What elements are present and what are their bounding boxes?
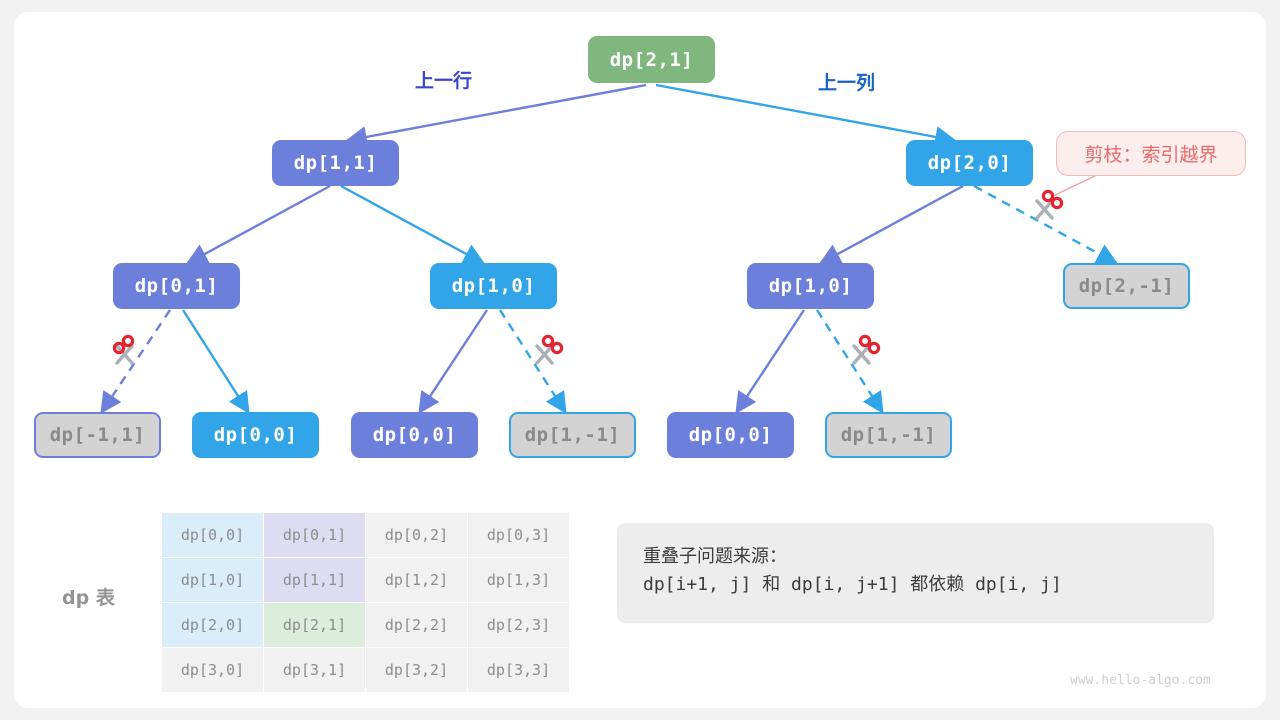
table-row: dp[1,0] dp[1,1] dp[1,2] dp[1,3] bbox=[162, 558, 570, 603]
edge-dp01-to-dp00-a bbox=[183, 310, 247, 410]
edge-label-prev-row: 上一行 bbox=[415, 66, 472, 93]
edge-label-prev-col: 上一列 bbox=[818, 68, 875, 95]
dp-table-label: dp 表 bbox=[62, 583, 115, 610]
note-line-2: dp[i+1, j] 和 dp[i, j+1] 都依赖 dp[i, j] bbox=[643, 571, 1188, 599]
node-dpm11-pruned[interactable]: dp[-1,1] bbox=[34, 412, 161, 458]
table-row: dp[3,0] dp[3,1] dp[3,2] dp[3,3] bbox=[162, 648, 570, 693]
diagram-stage: dp[2,1] dp[1,1] dp[2,0] dp[0,1] dp[1,0] … bbox=[0, 0, 1280, 720]
prune-callout-box: 剪枝：索引越界 bbox=[1056, 131, 1246, 176]
cell-0-0[interactable]: dp[0,0] bbox=[162, 513, 264, 558]
cell-3-0[interactable]: dp[3,0] bbox=[162, 648, 264, 693]
node-dp00-c[interactable]: dp[0,0] bbox=[667, 412, 794, 458]
node-root-dp21[interactable]: dp[2,1] bbox=[588, 36, 715, 83]
cell-2-3[interactable]: dp[2,3] bbox=[468, 603, 570, 648]
edge-dp11-to-dp10-left bbox=[341, 186, 481, 262]
overlapping-subproblem-note: 重叠子问题来源： dp[i+1, j] 和 dp[i, j+1] 都依赖 dp[… bbox=[617, 523, 1214, 623]
cell-2-0[interactable]: dp[2,0] bbox=[162, 603, 264, 648]
scissors-icon-dp1m1-b bbox=[843, 333, 883, 373]
watermark: www.hello-algo.com bbox=[1070, 673, 1211, 688]
node-dp2m1-pruned[interactable]: dp[2,-1] bbox=[1063, 263, 1190, 309]
dp-table: dp[0,0] dp[0,1] dp[0,2] dp[0,3] dp[1,0] … bbox=[161, 512, 570, 693]
edge-root-to-dp11 bbox=[350, 85, 646, 140]
cell-1-3[interactable]: dp[1,3] bbox=[468, 558, 570, 603]
edge-dp20-to-dp10-right bbox=[823, 186, 963, 262]
edge-root-to-dp20 bbox=[656, 85, 952, 140]
node-dp20[interactable]: dp[2,0] bbox=[906, 140, 1033, 186]
edge-dp10right-to-dp00 bbox=[738, 310, 804, 410]
cell-3-1[interactable]: dp[3,1] bbox=[264, 648, 366, 693]
table-row: dp[2,0] dp[2,1] dp[2,2] dp[2,3] bbox=[162, 603, 570, 648]
cell-3-3[interactable]: dp[3,3] bbox=[468, 648, 570, 693]
scissors-icon-dp1m1-a bbox=[526, 333, 566, 373]
cell-3-2[interactable]: dp[3,2] bbox=[366, 648, 468, 693]
scissors-icon-dp2m1 bbox=[1026, 188, 1066, 228]
cell-0-3[interactable]: dp[0,3] bbox=[468, 513, 570, 558]
node-dp11[interactable]: dp[1,1] bbox=[272, 140, 399, 186]
cell-0-2[interactable]: dp[0,2] bbox=[366, 513, 468, 558]
node-dp10-right[interactable]: dp[1,0] bbox=[747, 263, 874, 309]
node-dp1m1-pruned-a[interactable]: dp[1,-1] bbox=[509, 412, 636, 458]
table-row: dp[0,0] dp[0,1] dp[0,2] dp[0,3] bbox=[162, 513, 570, 558]
cell-1-2[interactable]: dp[1,2] bbox=[366, 558, 468, 603]
node-dp01[interactable]: dp[0,1] bbox=[113, 263, 240, 309]
node-dp1m1-pruned-b[interactable]: dp[1,-1] bbox=[825, 412, 952, 458]
edge-dp10left-to-dp00 bbox=[421, 310, 487, 410]
scissors-icon-dpm11 bbox=[106, 333, 146, 373]
cell-1-0[interactable]: dp[1,0] bbox=[162, 558, 264, 603]
cell-2-2[interactable]: dp[2,2] bbox=[366, 603, 468, 648]
cell-2-1[interactable]: dp[2,1] bbox=[264, 603, 366, 648]
cell-0-1[interactable]: dp[0,1] bbox=[264, 513, 366, 558]
note-line-1: 重叠子问题来源： bbox=[643, 543, 1188, 571]
node-dp00-a[interactable]: dp[0,0] bbox=[192, 412, 319, 458]
node-dp00-b[interactable]: dp[0,0] bbox=[351, 412, 478, 458]
node-dp10-left[interactable]: dp[1,0] bbox=[430, 263, 557, 309]
cell-1-1[interactable]: dp[1,1] bbox=[264, 558, 366, 603]
edge-dp11-to-dp01 bbox=[190, 186, 330, 262]
